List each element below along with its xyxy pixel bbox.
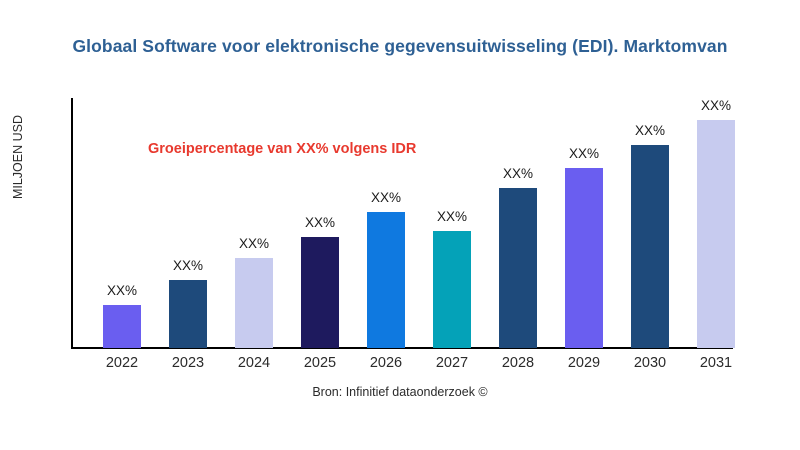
bar-value-label-2029: XX% [544,146,624,161]
bar-value-label-2026: XX% [346,190,426,205]
bar-2029 [565,168,603,348]
bar-2023 [169,280,207,348]
chart-container: Globaal Software voor elektronische gege… [0,0,800,450]
x-tick-2031: 2031 [676,355,756,371]
bar-2024 [235,258,273,348]
bar-2022 [103,305,141,348]
bar-2027 [433,231,471,348]
bar-value-label-2025: XX% [280,215,360,230]
bar-2028 [499,188,537,348]
bar-value-label-2028: XX% [478,166,558,181]
bar-2030 [631,145,669,348]
bar-value-label-2022: XX% [82,283,162,298]
bar-value-label-2027: XX% [412,209,492,224]
bar-2025 [301,237,339,348]
bar-value-label-2030: XX% [610,123,690,138]
source-note: Bron: Infinitief dataonderzoek © [0,385,800,399]
bar-value-label-2031: XX% [676,98,756,113]
bar-2031 [697,120,735,348]
bar-series: XX%2022XX%2023XX%2024XX%2025XX%2026XX%20… [0,0,800,450]
bar-value-label-2023: XX% [148,258,228,273]
bar-2026 [367,212,405,348]
bar-value-label-2024: XX% [214,236,294,251]
